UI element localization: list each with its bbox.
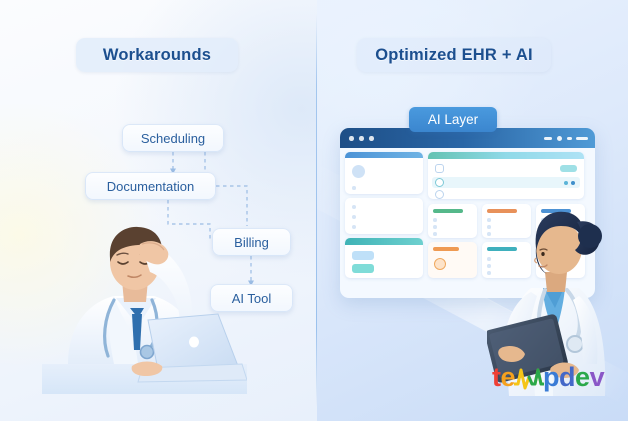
logo-letter-t: t [492,364,501,391]
logo-letter-p: p [543,364,559,391]
main-task-list-card[interactable] [428,152,584,199]
close-icon[interactable] [576,137,588,141]
right-panel-title: Optimized EHR + AI [357,38,551,72]
ai-layer-badge[interactable]: AI Layer [409,107,497,132]
flow-node-scheduling[interactable]: Scheduling [122,124,224,152]
maximize-icon[interactable] [557,136,562,141]
tempdev-logo[interactable]: t e p d e v [492,362,604,392]
left-panel-workarounds: Workarounds Scheduling Documentation Bil… [0,0,317,421]
sidebar-list-card[interactable] [345,198,423,234]
window-dot-3[interactable] [369,136,374,141]
grid-card-4[interactable] [428,242,477,278]
flow-node-documentation[interactable]: Documentation [85,172,216,200]
frustrated-doctor-illustration [42,214,247,394]
left-panel-title: Workarounds [76,38,238,72]
logo-letter-v: v [590,364,605,391]
window-dot-1[interactable] [349,136,354,141]
logo-letter-e1: e [501,364,516,391]
infographic-canvas: Workarounds Scheduling Documentation Bil… [0,0,628,421]
logo-letter-e2: e [575,364,590,391]
grid-card-1[interactable] [428,204,477,238]
pulse-wave-icon [514,364,544,390]
logo-letter-d: d [559,364,575,391]
patient-summary-card[interactable] [345,152,423,194]
window-dot-2[interactable] [359,136,364,141]
minimize-icon[interactable] [544,137,552,141]
sidebar-action-card[interactable] [345,238,423,278]
add-icon[interactable] [567,137,572,141]
